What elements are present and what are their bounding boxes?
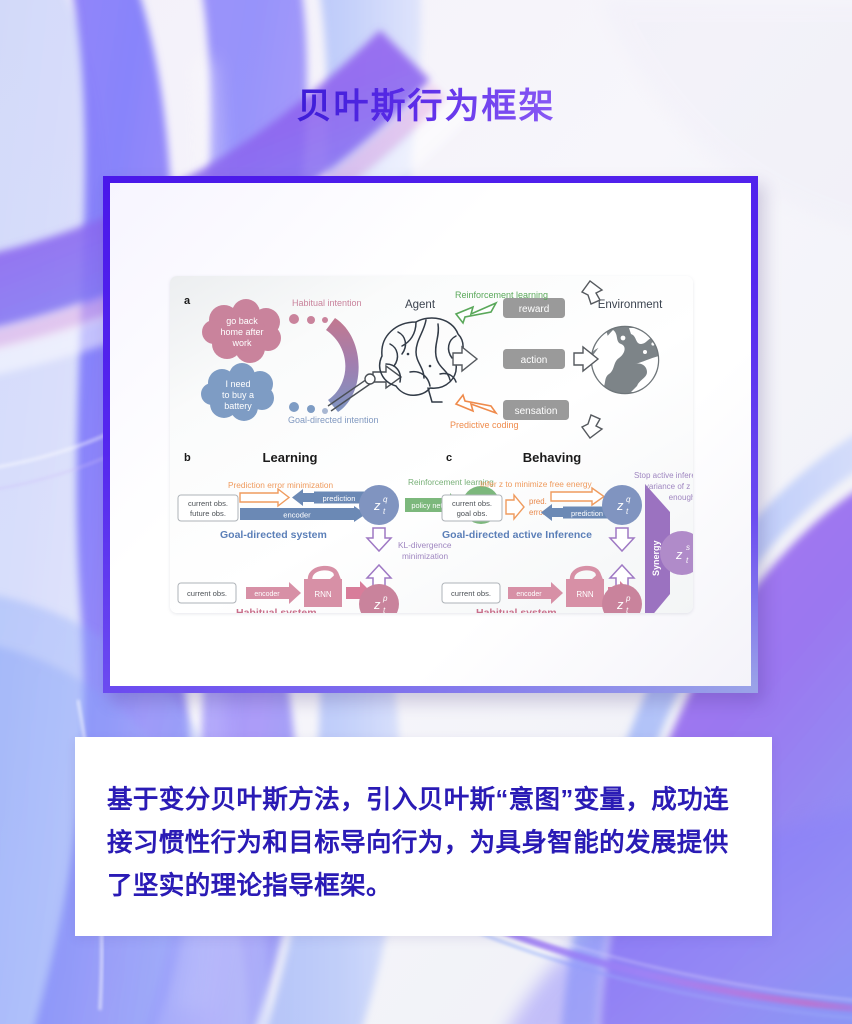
node-zq-b: z q t: [359, 485, 399, 525]
habitual-system-label-c: Habitual system: [476, 607, 557, 613]
node-zq-letter-c: z: [616, 498, 624, 513]
infer-arrow-small-c: [506, 495, 524, 519]
caption-text: 基于变分贝叶斯方法，引入贝叶斯“意图”变量，成功连接习惯性行为和目标导向行为，为…: [107, 779, 743, 908]
obs-line2-b: future obs.: [190, 509, 226, 518]
node-rnn-label-b: RNN: [314, 590, 332, 599]
kl-label-line1-b: KL-divergence: [398, 540, 452, 550]
brain-icon: [380, 318, 463, 402]
scientific-figure-frame: a go back home after work: [170, 276, 693, 613]
panel-c-label: c: [446, 452, 452, 464]
obs-line2-c: goal obs.: [457, 509, 488, 518]
cloud-habitual-intention: go back home after work: [202, 299, 281, 363]
pred-line1-c: pred.: [529, 497, 547, 506]
node-zp-letter-c: z: [616, 597, 624, 612]
stop-note-line2: variance of z is small: [645, 482, 693, 491]
infer-free-energy-label: Infer z to minimize free energy: [480, 479, 592, 489]
intention-dots-top: [289, 314, 328, 324]
current-obs-label-b: current obs.: [187, 589, 227, 598]
cloud-habitual-line2: home after: [220, 327, 263, 337]
panel-a: a go back home after work: [184, 281, 663, 438]
arrow-prediction-label-b: prediction: [323, 494, 356, 503]
page-title: 贝叶斯行为框架: [0, 78, 852, 129]
node-zq-sup-c: q: [626, 495, 631, 504]
current-obs-label-c: current obs.: [451, 589, 491, 598]
panel-c: c Behaving Infer z to minimize free ener…: [442, 450, 693, 613]
prediction-error-arrow-b: [240, 489, 289, 506]
cloud-goal-line3: battery: [224, 401, 252, 411]
node-rnn-b: RNN: [304, 568, 342, 607]
figure-card-inner: a go back home after work: [110, 183, 751, 686]
panel-c-title: Behaving: [523, 450, 582, 465]
arrow-encoder-label-b: encoder: [283, 511, 311, 520]
reinforcement-learning-label-a: Reinforcement learning: [455, 290, 548, 300]
box-sensation-label: sensation: [515, 406, 558, 417]
intention-dots-bottom: [289, 402, 328, 414]
node-zq-letter-b: z: [373, 498, 381, 513]
arrow-prediction-label-c: prediction: [571, 509, 603, 518]
arrow-prediction-c: prediction: [541, 504, 611, 521]
predictive-coding-label: Predictive coding: [450, 420, 519, 430]
node-zp-sup-b: p: [382, 594, 388, 603]
node-zp-sup-c: p: [625, 594, 631, 603]
figure-card: a go back home after work: [103, 176, 758, 693]
node-rnn-c: RNN: [566, 568, 604, 607]
box-sensation: sensation: [503, 400, 569, 420]
synergy-arrows-c: [610, 528, 634, 588]
habitual-intention-label: Habitual intention: [292, 298, 362, 308]
stop-note-line1: Stop active inference when: [634, 471, 693, 480]
panel-a-label: a: [184, 295, 191, 307]
box-current-goal-obs: current obs. goal obs.: [442, 495, 502, 521]
bayesian-behavior-diagram: a go back home after work: [170, 276, 693, 613]
cloud-habitual-line3: work: [231, 338, 252, 348]
kl-divergence-arrows-b: [367, 528, 391, 588]
cloud-goal-directed-intention: I need to buy a battery: [201, 363, 274, 421]
environment-label: Environment: [598, 299, 663, 311]
globe-icon: [591, 327, 659, 393]
arrow-encode-label-b: encoder: [254, 591, 280, 598]
predictive-coding-arrow: [456, 395, 496, 413]
page-title-text: 贝叶斯行为框架: [296, 78, 555, 129]
node-zs-sup: s: [686, 543, 690, 552]
arrow-encode-c: encoder: [508, 582, 563, 604]
cloud-goal-line1: I need: [225, 379, 250, 389]
arrow-prediction-b: prediction: [292, 489, 364, 506]
kl-label-line2-b: minimization: [402, 551, 448, 561]
box-current-future-obs: current obs. future obs.: [178, 495, 238, 521]
goal-directed-intention-label: Goal-directed intention: [288, 415, 379, 425]
agent-label: Agent: [405, 299, 436, 311]
policy-net-label-b: policy net: [411, 501, 442, 510]
box-reward: reward: [503, 298, 565, 318]
intention-arc: [326, 318, 359, 412]
cloud-habitual-line1: go back: [226, 316, 258, 326]
node-zs-letter: z: [675, 547, 683, 562]
goal-directed-system-label-b: Goal-directed system: [220, 529, 327, 541]
arrow-encode-label-c: encoder: [516, 591, 542, 598]
box-reward-label: reward: [519, 304, 550, 315]
infer-arrow-long-c: [551, 488, 604, 505]
caption-card: 基于变分贝叶斯方法，引入贝叶斯“意图”变量，成功连接习惯性行为和目标导向行为，为…: [75, 737, 772, 936]
node-zq-sup-b: q: [383, 495, 388, 504]
goal-directed-active-inference-label: Goal-directed active Inference: [442, 529, 592, 541]
arrow-encode-b: encoder: [246, 582, 301, 604]
node-rnn-label-c: RNN: [576, 590, 594, 599]
box-current-obs-c: current obs.: [442, 583, 500, 603]
cloud-goal-line2: to buy a: [222, 390, 254, 400]
box-action-label: action: [521, 355, 548, 366]
node-zp-letter-b: z: [373, 597, 381, 612]
habitual-system-label-b: Habitual system: [236, 607, 317, 613]
rl-arrow: [456, 303, 496, 323]
obs-line1-b: current obs.: [188, 499, 228, 508]
synergy-label: Synergy: [651, 540, 661, 576]
node-zq-c: z q t: [602, 485, 642, 525]
box-current-obs-b: current obs.: [178, 583, 236, 603]
box-action: action: [503, 349, 565, 369]
arrow-encoder-b: encoder: [240, 506, 366, 522]
panel-b-title: Learning: [263, 450, 318, 465]
prediction-error-minimization-label: Prediction error minimization: [228, 480, 334, 490]
panel-b-label: b: [184, 452, 191, 464]
obs-line1-c: current obs.: [452, 499, 492, 508]
stop-note-line3: enough: [669, 493, 693, 502]
